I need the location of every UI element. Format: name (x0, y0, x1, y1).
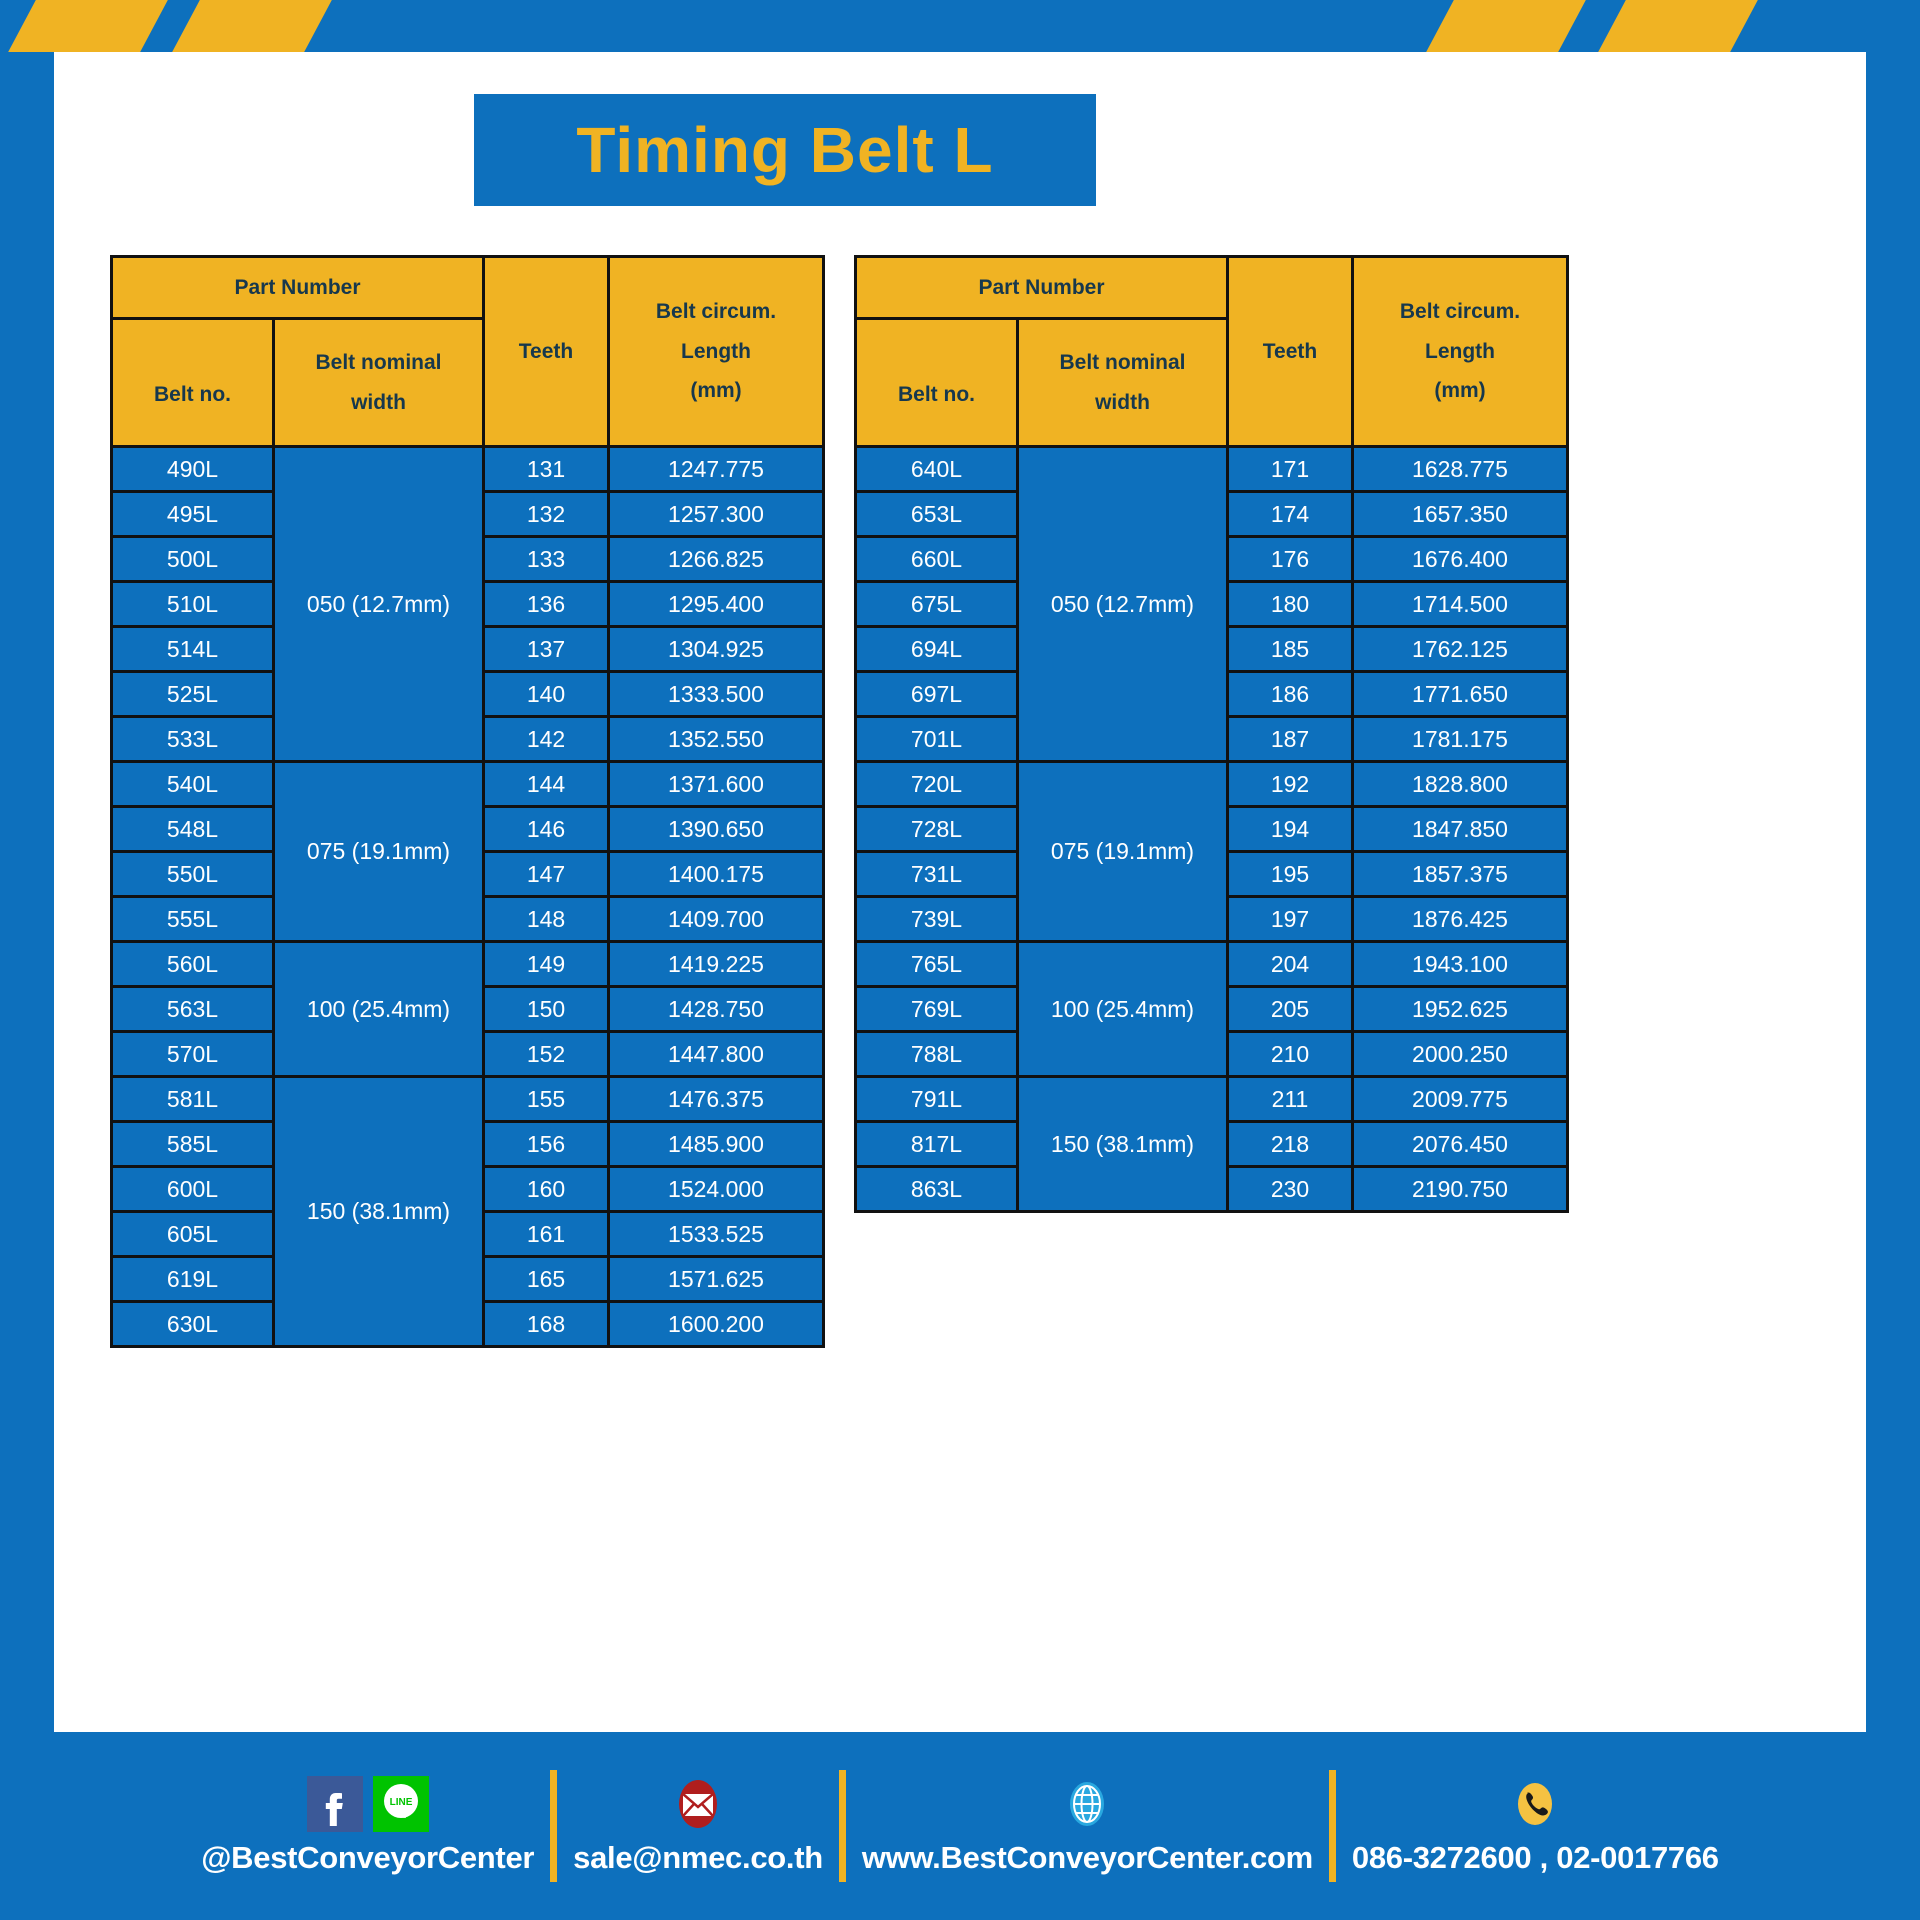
cell-belt-no: 563L (112, 987, 274, 1032)
table-row: 640L 050 (12.7mm) 171 1628.775 (856, 447, 1568, 492)
cell-teeth: 161 (484, 1212, 609, 1257)
cell-width-050: 050 (12.7mm) (1018, 447, 1228, 762)
cell-teeth: 185 (1228, 627, 1353, 672)
cell-teeth: 160 (484, 1167, 609, 1212)
cell-width-050: 050 (12.7mm) (274, 447, 484, 762)
cell-teeth: 174 (1228, 492, 1353, 537)
cell-length: 1390.650 (609, 807, 824, 852)
cell-teeth: 205 (1228, 987, 1353, 1032)
cell-teeth: 131 (484, 447, 609, 492)
footer-email-group[interactable]: sale@nmec.co.th (557, 1776, 839, 1876)
cell-length: 1409.700 (609, 897, 824, 942)
svg-text:LINE: LINE (389, 1797, 412, 1808)
header-teeth: Teeth (1228, 257, 1353, 447)
page-title-banner: Timing Belt L (474, 94, 1096, 206)
header-length-label: Length (1356, 332, 1564, 372)
cell-belt-no: 765L (856, 942, 1018, 987)
cell-belt-no: 619L (112, 1257, 274, 1302)
table-row: 560L 100 (25.4mm) 149 1419.225 (112, 942, 824, 987)
table-row: 791L 150 (38.1mm) 211 2009.775 (856, 1077, 1568, 1122)
table-header-row: Part Number Teeth Belt circum. Length (m… (112, 257, 824, 319)
table-body-right: 640L 050 (12.7mm) 171 1628.775 653L 174 … (856, 447, 1568, 1212)
cell-teeth: 211 (1228, 1077, 1353, 1122)
cell-belt-no: 788L (856, 1032, 1018, 1077)
cell-length: 1943.100 (1353, 942, 1568, 987)
cell-belt-no: 605L (112, 1212, 274, 1257)
header-belt-nominal-line2: width (277, 383, 480, 423)
facebook-icon[interactable] (307, 1776, 363, 1832)
cell-teeth: 133 (484, 537, 609, 582)
cell-length: 1657.350 (1353, 492, 1568, 537)
cell-belt-no: 630L (112, 1302, 274, 1347)
social-handle-label: @BestConveyorCenter (201, 1840, 534, 1876)
content-card: Timing Belt L Part Number Teeth Belt cir… (54, 52, 1866, 1732)
cell-teeth: 186 (1228, 672, 1353, 717)
header-belt-nominal-line1: Belt nominal (1021, 343, 1224, 383)
cell-length: 1447.800 (609, 1032, 824, 1077)
phone-icon-wrap (1507, 1776, 1563, 1832)
cell-belt-no: 739L (856, 897, 1018, 942)
table-body-left: 490L 050 (12.7mm) 131 1247.775 495L 132 … (112, 447, 824, 1347)
cell-length: 1295.400 (609, 582, 824, 627)
footer-website-group[interactable]: www.BestConveyorCenter.com (846, 1776, 1329, 1876)
cell-width-100: 100 (25.4mm) (274, 942, 484, 1077)
table-header-row: Part Number Teeth Belt circum. Length (m… (856, 257, 1568, 319)
cell-length: 1781.175 (1353, 717, 1568, 762)
cell-teeth: 165 (484, 1257, 609, 1302)
website-icon-wrap (1059, 1776, 1115, 1832)
phone-icon[interactable] (1507, 1776, 1563, 1832)
cell-length: 1419.225 (609, 942, 824, 987)
cell-length: 1524.000 (609, 1167, 824, 1212)
cell-length: 1304.925 (609, 627, 824, 672)
cell-belt-no: 510L (112, 582, 274, 627)
cell-width-150: 150 (38.1mm) (1018, 1077, 1228, 1212)
cell-teeth: 142 (484, 717, 609, 762)
cell-belt-no: 550L (112, 852, 274, 897)
cell-belt-no: 653L (856, 492, 1018, 537)
cell-length: 2009.775 (1353, 1077, 1568, 1122)
cell-length: 1628.775 (1353, 447, 1568, 492)
cell-length: 1257.300 (609, 492, 824, 537)
cell-teeth: 152 (484, 1032, 609, 1077)
chevron-shape (1596, 0, 1760, 52)
footer-social-group[interactable]: LINE @BestConveyorCenter (185, 1776, 550, 1876)
table-row: 540L 075 (19.1mm) 144 1371.600 (112, 762, 824, 807)
header-belt-circum: Belt circum. Length (mm) (1353, 257, 1568, 447)
spec-table-right: Part Number Teeth Belt circum. Length (m… (854, 255, 1569, 1213)
cell-length: 1952.625 (1353, 987, 1568, 1032)
cell-belt-no: 495L (112, 492, 274, 537)
cell-length: 1857.375 (1353, 852, 1568, 897)
header-belt-circum: Belt circum. Length (mm) (609, 257, 824, 447)
cell-length: 1485.900 (609, 1122, 824, 1167)
line-icon[interactable]: LINE (373, 1776, 429, 1832)
header-part-number: Part Number (112, 257, 484, 319)
header-belt-nominal-line2: width (1021, 383, 1224, 423)
cell-belt-no: 570L (112, 1032, 274, 1077)
cell-length: 1828.800 (1353, 762, 1568, 807)
email-icon[interactable] (670, 1776, 726, 1832)
footer-contact-bar: LINE @BestConveyorCenter sale@nmec.co.th (0, 1732, 1920, 1920)
cell-belt-no: 490L (112, 447, 274, 492)
cell-teeth: 204 (1228, 942, 1353, 987)
cell-length: 1247.775 (609, 447, 824, 492)
cell-belt-no: 660L (856, 537, 1018, 582)
spec-table-left: Part Number Teeth Belt circum. Length (m… (110, 255, 825, 1348)
cell-belt-no: 600L (112, 1167, 274, 1212)
cell-length: 1714.500 (1353, 582, 1568, 627)
header-part-number: Part Number (856, 257, 1228, 319)
cell-width-075: 075 (19.1mm) (274, 762, 484, 942)
cell-length: 1676.400 (1353, 537, 1568, 582)
cell-length: 1571.625 (609, 1257, 824, 1302)
cell-belt-no: 585L (112, 1122, 274, 1167)
cell-width-100: 100 (25.4mm) (1018, 942, 1228, 1077)
phone-label: 086-3272600 , 02-0017766 (1352, 1840, 1719, 1876)
table-row: 720L 075 (19.1mm) 192 1828.800 (856, 762, 1568, 807)
footer-divider (1329, 1770, 1336, 1882)
header-belt-no: Belt no. (112, 319, 274, 447)
top-decoration-band (0, 0, 1920, 52)
cell-length: 2076.450 (1353, 1122, 1568, 1167)
cell-belt-no: 791L (856, 1077, 1018, 1122)
footer-phone-group[interactable]: 086-3272600 , 02-0017766 (1336, 1776, 1735, 1876)
cell-belt-no: 728L (856, 807, 1018, 852)
cell-length: 1428.750 (609, 987, 824, 1032)
cell-teeth: 148 (484, 897, 609, 942)
cell-belt-no: 548L (112, 807, 274, 852)
cell-teeth: 150 (484, 987, 609, 1032)
cell-teeth: 168 (484, 1302, 609, 1347)
cell-belt-no: 697L (856, 672, 1018, 717)
cell-belt-no: 533L (112, 717, 274, 762)
cell-belt-no: 540L (112, 762, 274, 807)
page-title: Timing Belt L (576, 113, 993, 187)
cell-length: 1371.600 (609, 762, 824, 807)
header-belt-circum-label: Belt circum. (1356, 292, 1564, 332)
cell-teeth: 210 (1228, 1032, 1353, 1077)
cell-belt-no: 720L (856, 762, 1018, 807)
table-row: 581L 150 (38.1mm) 155 1476.375 (112, 1077, 824, 1122)
cell-width-075: 075 (19.1mm) (1018, 762, 1228, 942)
cell-belt-no: 560L (112, 942, 274, 987)
globe-icon[interactable] (1059, 1776, 1115, 1832)
cell-teeth: 197 (1228, 897, 1353, 942)
chevron-shape (1424, 0, 1588, 52)
cell-teeth: 192 (1228, 762, 1353, 807)
header-belt-circum-label: Belt circum. (612, 292, 820, 332)
cell-teeth: 218 (1228, 1122, 1353, 1167)
cell-teeth: 171 (1228, 447, 1353, 492)
cell-belt-no: 817L (856, 1122, 1018, 1167)
footer-divider (839, 1770, 846, 1882)
cell-belt-no: 694L (856, 627, 1018, 672)
website-label: www.BestConveyorCenter.com (862, 1840, 1313, 1876)
cell-belt-no: 731L (856, 852, 1018, 897)
cell-teeth: 144 (484, 762, 609, 807)
cell-width-150: 150 (38.1mm) (274, 1077, 484, 1347)
chevron-shape (170, 0, 334, 52)
cell-teeth: 180 (1228, 582, 1353, 627)
cell-teeth: 137 (484, 627, 609, 672)
cell-teeth: 176 (1228, 537, 1353, 582)
cell-teeth: 155 (484, 1077, 609, 1122)
cell-length: 1400.175 (609, 852, 824, 897)
cell-belt-no: 525L (112, 672, 274, 717)
cell-teeth: 187 (1228, 717, 1353, 762)
table-row: 765L 100 (25.4mm) 204 1943.100 (856, 942, 1568, 987)
cell-belt-no: 555L (112, 897, 274, 942)
footer-divider (550, 1770, 557, 1882)
cell-length: 1352.550 (609, 717, 824, 762)
cell-length: 2190.750 (1353, 1167, 1568, 1212)
cell-belt-no: 514L (112, 627, 274, 672)
email-label: sale@nmec.co.th (573, 1840, 823, 1876)
social-icons: LINE (307, 1776, 429, 1832)
cell-length: 1333.500 (609, 672, 824, 717)
cell-teeth: 156 (484, 1122, 609, 1167)
cell-belt-no: 581L (112, 1077, 274, 1122)
cell-length: 2000.250 (1353, 1032, 1568, 1077)
cell-length: 1771.650 (1353, 672, 1568, 717)
email-icon-wrap (670, 1776, 726, 1832)
cell-teeth: 147 (484, 852, 609, 897)
header-belt-nominal-width: Belt nominal width (274, 319, 484, 447)
header-unit-label: (mm) (612, 371, 820, 411)
cell-belt-no: 675L (856, 582, 1018, 627)
cell-belt-no: 863L (856, 1167, 1018, 1212)
cell-length: 1476.375 (609, 1077, 824, 1122)
cell-teeth: 149 (484, 942, 609, 987)
cell-length: 1600.200 (609, 1302, 824, 1347)
cell-length: 1266.825 (609, 537, 824, 582)
header-unit-label: (mm) (1356, 371, 1564, 411)
cell-teeth: 140 (484, 672, 609, 717)
cell-belt-no: 769L (856, 987, 1018, 1032)
cell-teeth: 146 (484, 807, 609, 852)
cell-teeth: 195 (1228, 852, 1353, 897)
header-teeth: Teeth (484, 257, 609, 447)
table-row: 490L 050 (12.7mm) 131 1247.775 (112, 447, 824, 492)
header-belt-no: Belt no. (856, 319, 1018, 447)
poster-page: Timing Belt L Part Number Teeth Belt cir… (0, 0, 1920, 1920)
cell-length: 1533.525 (609, 1212, 824, 1257)
header-belt-nominal-width: Belt nominal width (1018, 319, 1228, 447)
cell-length: 1876.425 (1353, 897, 1568, 942)
cell-belt-no: 701L (856, 717, 1018, 762)
cell-length: 1762.125 (1353, 627, 1568, 672)
cell-length: 1847.850 (1353, 807, 1568, 852)
header-length-label: Length (612, 332, 820, 372)
header-belt-nominal-line1: Belt nominal (277, 343, 480, 383)
cell-teeth: 194 (1228, 807, 1353, 852)
chevron-shape (6, 0, 170, 52)
cell-teeth: 230 (1228, 1167, 1353, 1212)
cell-belt-no: 640L (856, 447, 1018, 492)
cell-belt-no: 500L (112, 537, 274, 582)
cell-teeth: 132 (484, 492, 609, 537)
cell-teeth: 136 (484, 582, 609, 627)
